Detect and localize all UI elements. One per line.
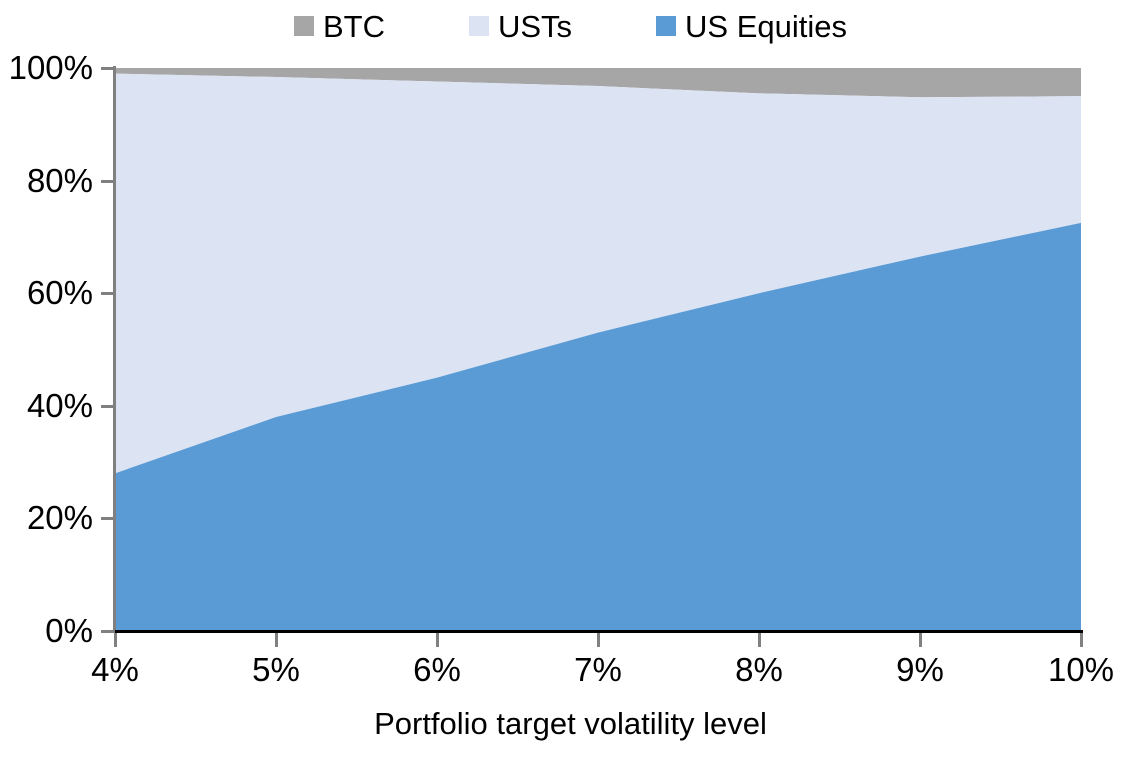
- y-axis-tick: [101, 180, 115, 183]
- y-axis-tick-label: 40%: [0, 389, 93, 422]
- y-axis-tick: [101, 405, 115, 408]
- legend-label-usts: USTs: [498, 11, 572, 42]
- stacked-area-chart: BTC USTs US Equities 0%20%40%60%80%100% …: [0, 0, 1141, 763]
- x-axis-tick: [597, 633, 600, 647]
- x-axis-tick-label: 10%: [1011, 652, 1141, 688]
- chart-legend: BTC USTs US Equities: [0, 6, 1141, 46]
- y-axis-tick: [101, 630, 115, 633]
- y-axis-tick-label: 100%: [0, 51, 93, 84]
- x-axis-title: Portfolio target volatility level: [0, 706, 1141, 742]
- x-axis-tick-label: 6%: [367, 652, 507, 688]
- legend-item-usts: USTs: [469, 11, 572, 42]
- y-axis-tick: [101, 517, 115, 520]
- y-axis-tick: [101, 67, 115, 70]
- y-axis-tick-label: 0%: [0, 614, 93, 647]
- x-axis-tick: [275, 633, 278, 647]
- legend-swatch-usts: [469, 16, 489, 36]
- x-axis-tick: [436, 633, 439, 647]
- y-axis-tick-label: 20%: [0, 501, 93, 534]
- legend-item-us-equities: US Equities: [656, 11, 847, 42]
- y-axis-tick: [101, 292, 115, 295]
- y-axis-tick-label: 60%: [0, 276, 93, 309]
- y-axis-line: [113, 66, 116, 633]
- y-axis-tick-label: 80%: [0, 164, 93, 197]
- x-axis-tick: [114, 633, 117, 647]
- x-axis-tick-label: 8%: [689, 652, 829, 688]
- x-axis-tick-label: 5%: [206, 652, 346, 688]
- plot-area: [115, 68, 1081, 631]
- area-series-svg: [115, 68, 1081, 631]
- x-axis-tick: [919, 633, 922, 647]
- legend-label-btc: BTC: [323, 11, 385, 42]
- x-axis-tick: [758, 633, 761, 647]
- x-axis-line: [101, 630, 1083, 633]
- legend-swatch-btc: [294, 16, 314, 36]
- x-axis-tick-label: 9%: [850, 652, 990, 688]
- x-axis-tick-label: 4%: [45, 652, 185, 688]
- legend-label-us-equities: US Equities: [685, 11, 847, 42]
- legend-swatch-us-equities: [656, 16, 676, 36]
- x-axis-tick: [1080, 633, 1083, 647]
- legend-item-btc: BTC: [294, 11, 385, 42]
- x-axis-tick-label: 7%: [528, 652, 668, 688]
